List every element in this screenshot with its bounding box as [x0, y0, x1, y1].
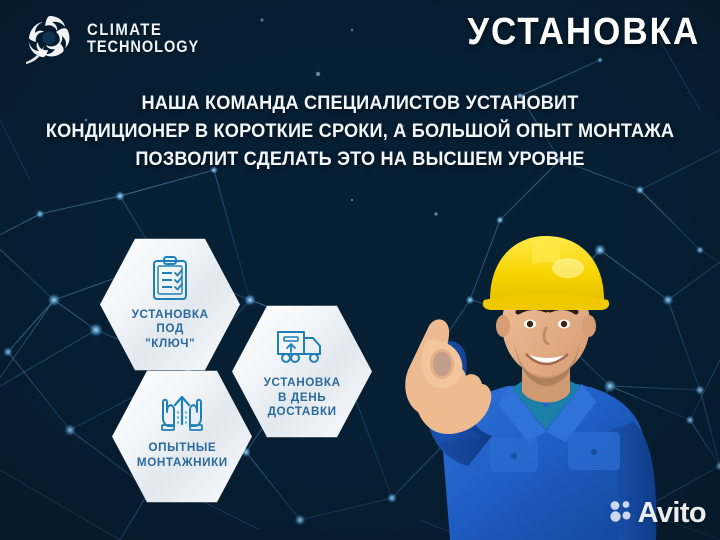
- feature-3-line-2: МОНТАЖНИКИ: [137, 455, 228, 470]
- protective-gloves-icon: [157, 389, 207, 433]
- delivery-truck-icon: [276, 324, 328, 368]
- feature-2-line-3: ДОСТАВКИ: [263, 404, 340, 419]
- clipboard-checklist-icon: [150, 256, 190, 300]
- brand-name: CLIMATE TECHNOLOGY: [87, 21, 199, 56]
- worker-photo: [372, 216, 720, 540]
- page-title: УСТАНОВКА: [467, 11, 700, 54]
- avito-dots-icon: [609, 499, 633, 528]
- feature-2-line-1: УСТАНОВКА: [263, 375, 340, 390]
- feature-2-line-2: В ДЕНЬ: [263, 390, 340, 405]
- headline-line-2: КОНДИЦИОНЕР В КОРОТКИЕ СРОКИ, А БОЛЬШОЙ …: [25, 117, 695, 145]
- brand-logo[interactable]: CLIMATE TECHNOLOGY: [22, 10, 214, 68]
- avito-watermark: Avito: [609, 497, 706, 530]
- brand-name-line1: CLIMATE: [87, 21, 199, 39]
- headline-line-3: ПОЗВОЛИТ СДЕЛАТЬ ЭТО НА ВЫСШЕМ УРОВНЕ: [25, 145, 695, 173]
- feature-3-line-1: ОПЫТНЫЕ: [137, 440, 228, 455]
- feature-hex-same-day-label: УСТАНОВКА В ДЕНЬ ДОСТАВКИ: [262, 375, 342, 419]
- feature-hex-experienced-label: ОПЫТНЫЕ МОНТАЖНИКИ: [135, 440, 230, 469]
- feature-1-line-3: "КЛЮЧ": [131, 336, 208, 351]
- headline-line-1: НАША КОМАНДА СПЕЦИАЛИСТОВ УСТАНОВИТ: [25, 89, 695, 117]
- promo-banner: CLIMATE TECHNOLOGY УСТАНОВКА НАША КОМАНД…: [0, 0, 720, 540]
- feature-1-line-1: УСТАНОВКА: [131, 307, 208, 322]
- headline: НАША КОМАНДА СПЕЦИАЛИСТОВ УСТАНОВИТ КОНД…: [0, 89, 720, 173]
- spiral-turbine-icon: [22, 10, 78, 68]
- avito-label: Avito: [638, 497, 706, 530]
- brand-name-line2: TECHNOLOGY: [87, 39, 199, 56]
- feature-1-line-2: ПОД: [131, 321, 208, 336]
- feature-hex-turnkey-label: УСТАНОВКА ПОД "КЛЮЧ": [130, 307, 210, 351]
